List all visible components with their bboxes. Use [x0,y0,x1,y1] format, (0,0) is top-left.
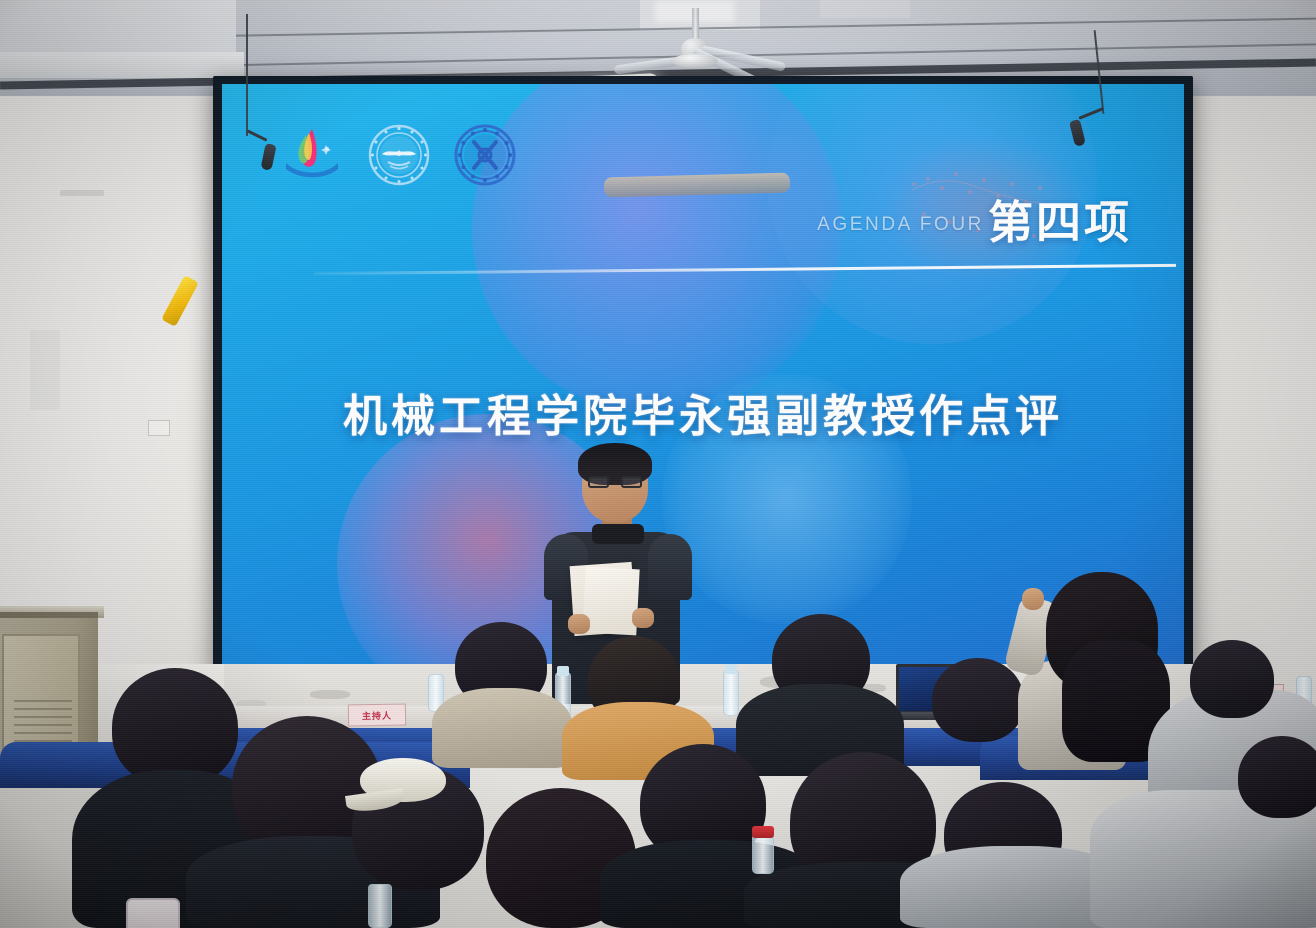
slide-logo-group [282,124,516,186]
desk-placard-left-text: 主持人 [362,708,392,722]
presenter-papers-2 [582,567,639,636]
smartphone[interactable] [126,898,180,928]
attendee-head [1190,640,1274,718]
flame-ribbon-logo-icon [282,125,344,185]
attendee-head [112,668,238,786]
desk-placard-left: 主持人 [348,703,406,726]
presenter-glasses-icon [588,476,642,488]
attendee-head [932,658,1024,742]
water-bottle-red-cap [752,826,774,838]
water-bottle [723,670,739,716]
attendee-head [1238,736,1316,818]
right-wall [1186,0,1316,720]
ceiling-soffit-lower [0,52,244,78]
water-bottle [368,884,392,928]
university-seal-eagle-logo-icon [368,124,430,186]
university-seal-emblem-logo-icon [454,124,516,186]
slide-title: 机械工程学院毕永强副教授作点评 [222,380,1184,444]
attendee-body [432,688,572,768]
projection-screen: AGENDA FOUR 第四项 机械工程学院毕永强副教授作点评 [222,84,1184,666]
water-bottle [752,834,774,874]
slide-agenda-english: AGENDA FOUR [817,214,984,245]
water-bottle-cap [557,666,569,676]
slide-agenda-block: AGENDA FOUR 第四项 [817,200,1132,245]
wall-plate [148,420,170,436]
water-bottle-cap [725,664,737,674]
lecture-hall-photo: AGENDA FOUR 第四项 机械工程学院毕永强副教授作点评 [0,0,1316,928]
slide-agenda-chinese: 第四项 [988,200,1132,245]
